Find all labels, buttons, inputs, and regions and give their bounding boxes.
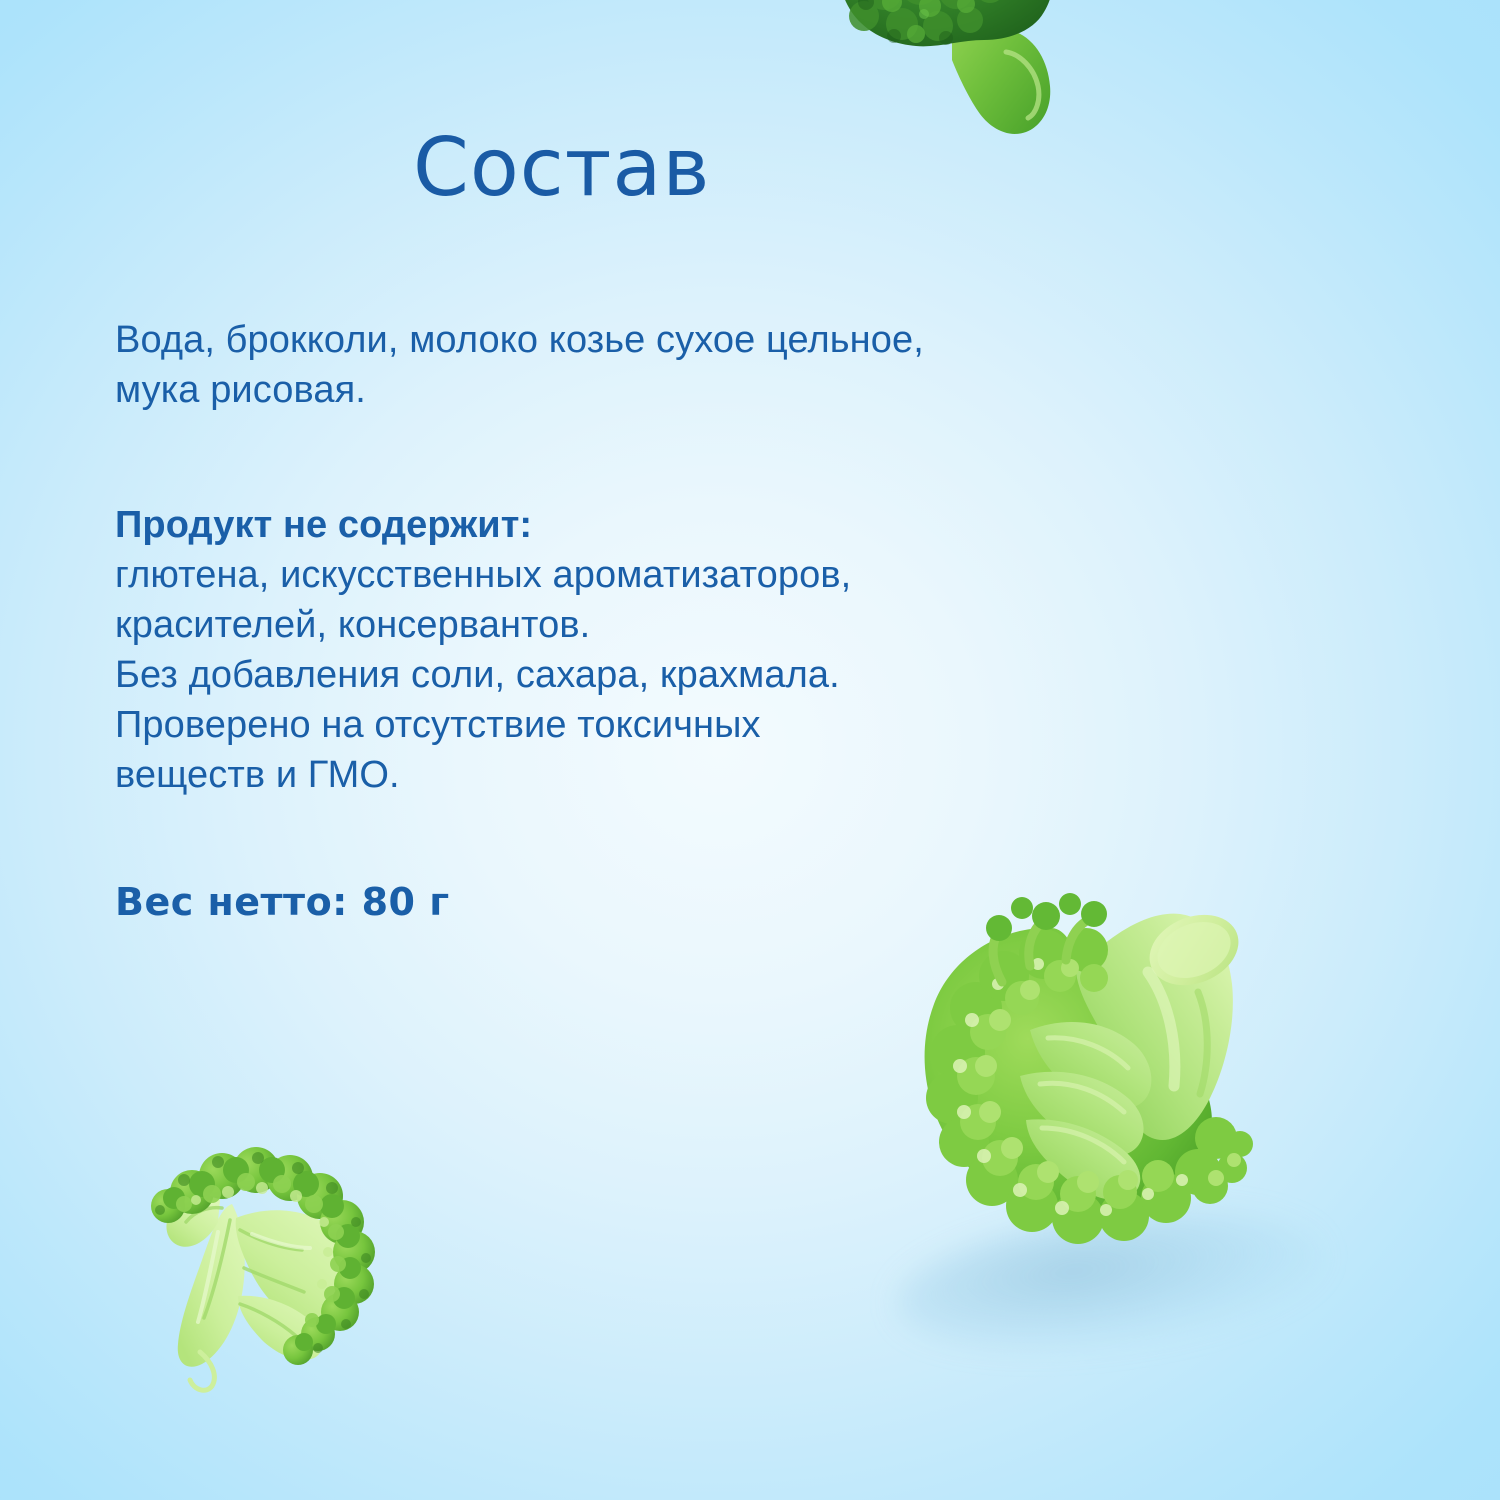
free-from-heading: Продукт не содержит:	[115, 500, 1125, 550]
free-from-line-2: красителей, консервантов.	[115, 600, 1125, 650]
free-from-line-3: Без добавления соли, сахара, крахмала.	[115, 650, 1125, 700]
ingredients-line-2: мука рисовая.	[115, 365, 1125, 415]
free-from-text: Продукт не содержит: глютена, искусствен…	[115, 500, 1125, 800]
net-weight: Вес нетто: 80 г	[115, 877, 715, 928]
broccoli-floret-large-icon	[880, 880, 1280, 1280]
product-info-card: Состав Вода, брокколи, молоко козье сухо…	[0, 0, 1500, 1500]
broccoli-floret-cut-icon	[140, 1148, 385, 1398]
ingredients-line-1: Вода, брокколи, молоко козье сухое цельн…	[115, 315, 1125, 365]
page-title: Состав	[413, 128, 711, 208]
free-from-line-4: Проверено на отсутствие токсичных	[115, 700, 1125, 750]
broccoli-floret-dark-icon	[820, 0, 1085, 155]
net-weight-label: Вес нетто: 80 г	[115, 880, 450, 924]
free-from-line-1: глютена, искусственных ароматизаторов,	[115, 550, 1125, 600]
ingredients-text: Вода, брокколи, молоко козье сухое цельн…	[115, 315, 1125, 415]
free-from-line-5: веществ и ГМО.	[115, 750, 1125, 800]
